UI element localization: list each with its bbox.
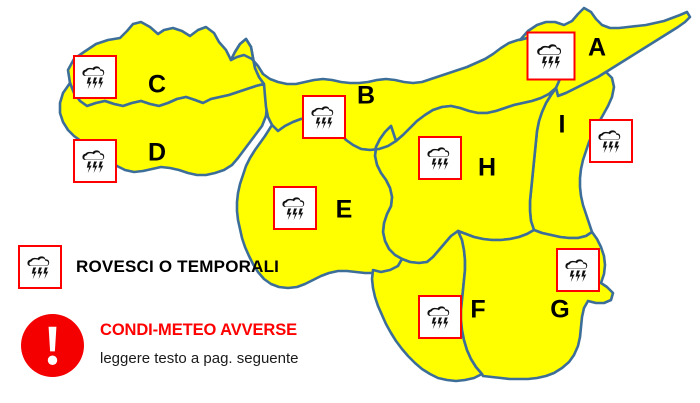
- region-label-G: G: [550, 298, 569, 323]
- thunderstorm-icon: [425, 143, 456, 174]
- weather-alert-map-page: A B C D E F G H I: [0, 0, 700, 403]
- legend-label: ROVESCI O TEMPORALI: [76, 257, 279, 277]
- alert-icon-box-region-A[interactable]: [527, 32, 576, 81]
- warning-title: CONDI-METEO AVVERSE: [100, 321, 297, 340]
- region-label-A: A: [588, 36, 606, 61]
- legend: ROVESCI O TEMPORALI: [18, 245, 328, 297]
- region-label-H: H: [478, 156, 496, 181]
- thunderstorm-icon: [425, 302, 456, 333]
- alert-icon-box-region-D[interactable]: [73, 139, 117, 183]
- region-label-B: B: [357, 84, 375, 109]
- alert-icon-box-region-B[interactable]: [302, 95, 346, 139]
- alert-icon-box-region-C[interactable]: [73, 55, 117, 99]
- alert-icon-box-region-I[interactable]: [589, 119, 633, 163]
- thunderstorm-icon: [25, 252, 56, 283]
- thunderstorm-icon: [80, 62, 111, 93]
- adverse-weather-warning: CONDI-METEO AVVERSE leggere testo a pag.…: [18, 312, 358, 382]
- thunderstorm-icon: [280, 193, 311, 224]
- exclamation-circle-icon: [21, 314, 84, 377]
- thunderstorm-icon: [596, 126, 627, 157]
- thunderstorm-icon: [534, 39, 568, 73]
- legend-icon-box: [18, 245, 62, 289]
- region-label-F: F: [470, 298, 485, 323]
- thunderstorm-icon: [80, 146, 111, 177]
- region-label-E: E: [336, 198, 353, 223]
- alert-icon-box-region-F[interactable]: [418, 295, 462, 339]
- thunderstorm-icon: [309, 102, 340, 133]
- region-label-C: C: [148, 73, 166, 98]
- warning-subtitle: leggere testo a pag. seguente: [100, 350, 299, 367]
- alert-icon-box-region-H[interactable]: [418, 136, 462, 180]
- region-label-D: D: [148, 141, 166, 166]
- region-label-I: I: [559, 113, 566, 138]
- exclamation-mark-glyph: [21, 314, 84, 377]
- alert-icon-box-region-E[interactable]: [273, 186, 317, 230]
- thunderstorm-icon: [563, 255, 594, 286]
- alert-icon-box-region-G[interactable]: [556, 248, 600, 292]
